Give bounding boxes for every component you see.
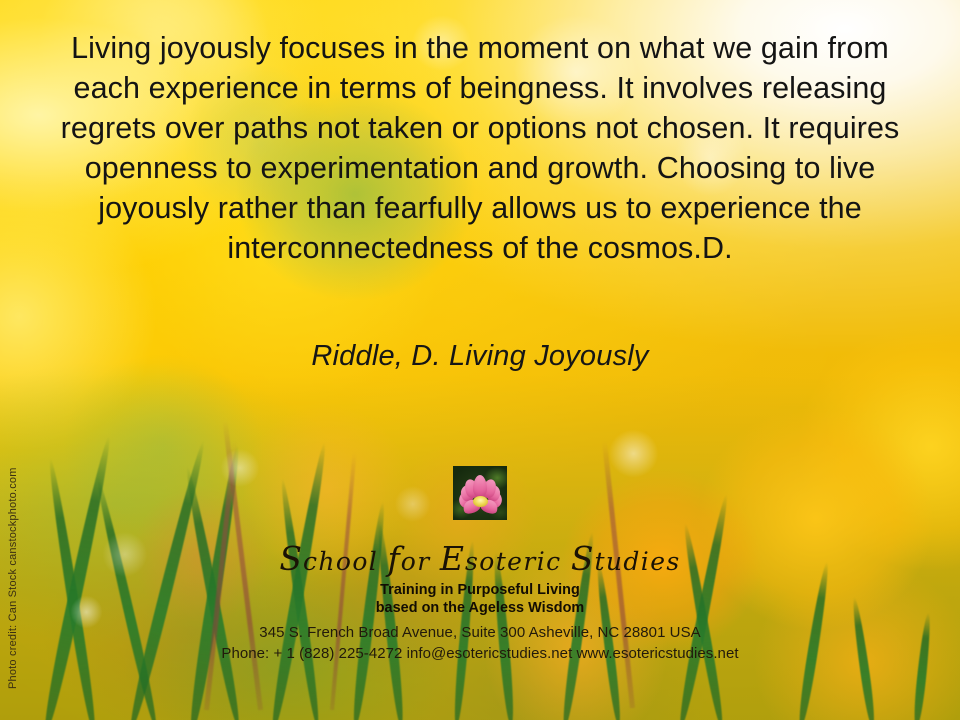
quote-attribution: Riddle, D. Living Joyously [48,340,912,373]
org-name-rest4: tudies [594,547,680,576]
lotus-flower-logo-icon [453,466,507,520]
tagline-line-1: Training in Purposeful Living [376,582,585,600]
organization-contact-block: 345 S. French Broad Avenue, Suite 300 As… [221,622,738,664]
slide-canvas: Living joyously focuses in the moment on… [0,0,960,720]
org-name-rest3: soteric [465,547,571,576]
lotus-petal [473,475,487,497]
photo-credit-text: Photo credit: Can Stock canstockphoto.co… [7,489,19,689]
organization-contact: Phone: + 1 (828) 225-4272 info@esoterics… [221,643,738,664]
org-name-cap-f: f [388,539,401,578]
organization-address: 345 S. French Broad Avenue, Suite 300 As… [221,622,738,643]
organization-name: School for Esoteric Studies [279,542,680,575]
lotus-center [473,496,488,507]
tagline-line-2: based on the Ageless Wisdom [376,600,585,618]
org-name-cap-s2: S [571,539,595,578]
organization-tagline: Training in Purposeful Living based on t… [376,582,585,617]
quote-text: Living joyously focuses in the moment on… [48,28,912,268]
org-name-cap-s1: S [279,539,303,578]
org-name-rest1: chool [303,547,388,576]
org-name-cap-e: E [440,539,465,578]
org-name-rest2: or [401,547,440,576]
organization-footer: School for Esoteric Studies Training in … [0,466,960,664]
